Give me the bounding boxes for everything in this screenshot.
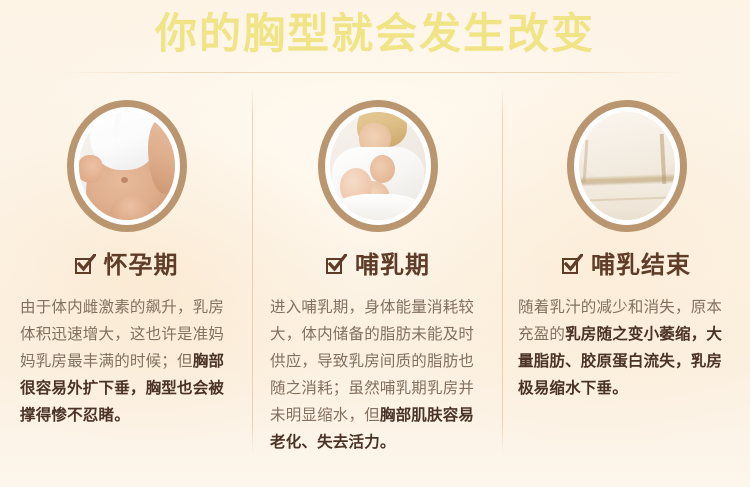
stage-heading-label: 怀孕期 bbox=[104, 252, 179, 280]
stage-column-lactation: 哺乳期 进入哺乳期，身体能量消耗较大，体内储备的脂肪未能及时供应，导致乳房间质的… bbox=[253, 88, 503, 468]
photo-clip bbox=[579, 112, 675, 220]
stage-column-post-lactation: 哺乳结束 随着乳汁的减少和消失，原本充盈的乳房随之变小萎缩，大量脂肪、胶原蛋白流… bbox=[503, 88, 750, 468]
lower-hand-shape bbox=[111, 196, 149, 220]
photo-scene bbox=[330, 112, 426, 220]
stage-column-pregnancy: 怀孕期 由于体内雌激素的飙升，乳房体积迅速增大，这也许是准妈妈乳房最丰满的时候；… bbox=[0, 88, 253, 468]
navel-shape bbox=[121, 177, 128, 183]
stage-body-pregnancy: 由于体内雌激素的飙升，乳房体积迅速增大，这也许是准妈妈乳房最丰满的时候；但胸部很… bbox=[18, 294, 235, 429]
blanket-shape bbox=[330, 194, 426, 220]
white-garment-closeup-photo bbox=[567, 100, 687, 232]
stage-heading-pregnancy: 怀孕期 bbox=[18, 252, 235, 280]
stages-columns: 怀孕期 由于体内雌激素的飙升，乳房体积迅速增大，这也许是准妈妈乳房最丰满的时候；… bbox=[0, 88, 750, 468]
photo-clip bbox=[330, 112, 426, 220]
title-underline-divider bbox=[62, 72, 688, 73]
photo-scene bbox=[79, 112, 175, 220]
stage-heading-post-lactation: 哺乳结束 bbox=[517, 252, 736, 280]
promo-page: 你的胸型就会发生改变 bbox=[0, 0, 750, 487]
checkbox-checked-icon bbox=[562, 256, 582, 276]
photo-clip bbox=[79, 112, 175, 220]
stage-body-post-lactation: 随着乳汁的减少和消失，原本充盈的乳房随之变小萎缩，大量脂肪、胶原蛋白流失，乳房极… bbox=[517, 294, 736, 402]
photo-scene bbox=[579, 112, 675, 220]
stage-heading-label: 哺乳期 bbox=[355, 252, 430, 280]
pregnant-belly-photo bbox=[67, 100, 187, 232]
stage-body-lactation: 进入哺乳期，身体能量消耗较大，体内储备的脂肪未能及时供应，导致乳房间质的脂肪也随… bbox=[269, 294, 487, 456]
stage-heading-lactation: 哺乳期 bbox=[269, 252, 487, 280]
checkbox-checked-icon bbox=[326, 256, 346, 276]
mother-breastfeeding-photo bbox=[318, 100, 438, 232]
page-title: 你的胸型就会发生改变 bbox=[0, 6, 750, 62]
checkbox-checked-icon bbox=[75, 256, 95, 276]
stage-heading-label: 哺乳结束 bbox=[591, 252, 691, 280]
body-plain: 进入哺乳期，身体能量消耗较大，体内储备的脂肪未能及时供应，导致乳房间质的脂肪也随… bbox=[270, 299, 474, 424]
